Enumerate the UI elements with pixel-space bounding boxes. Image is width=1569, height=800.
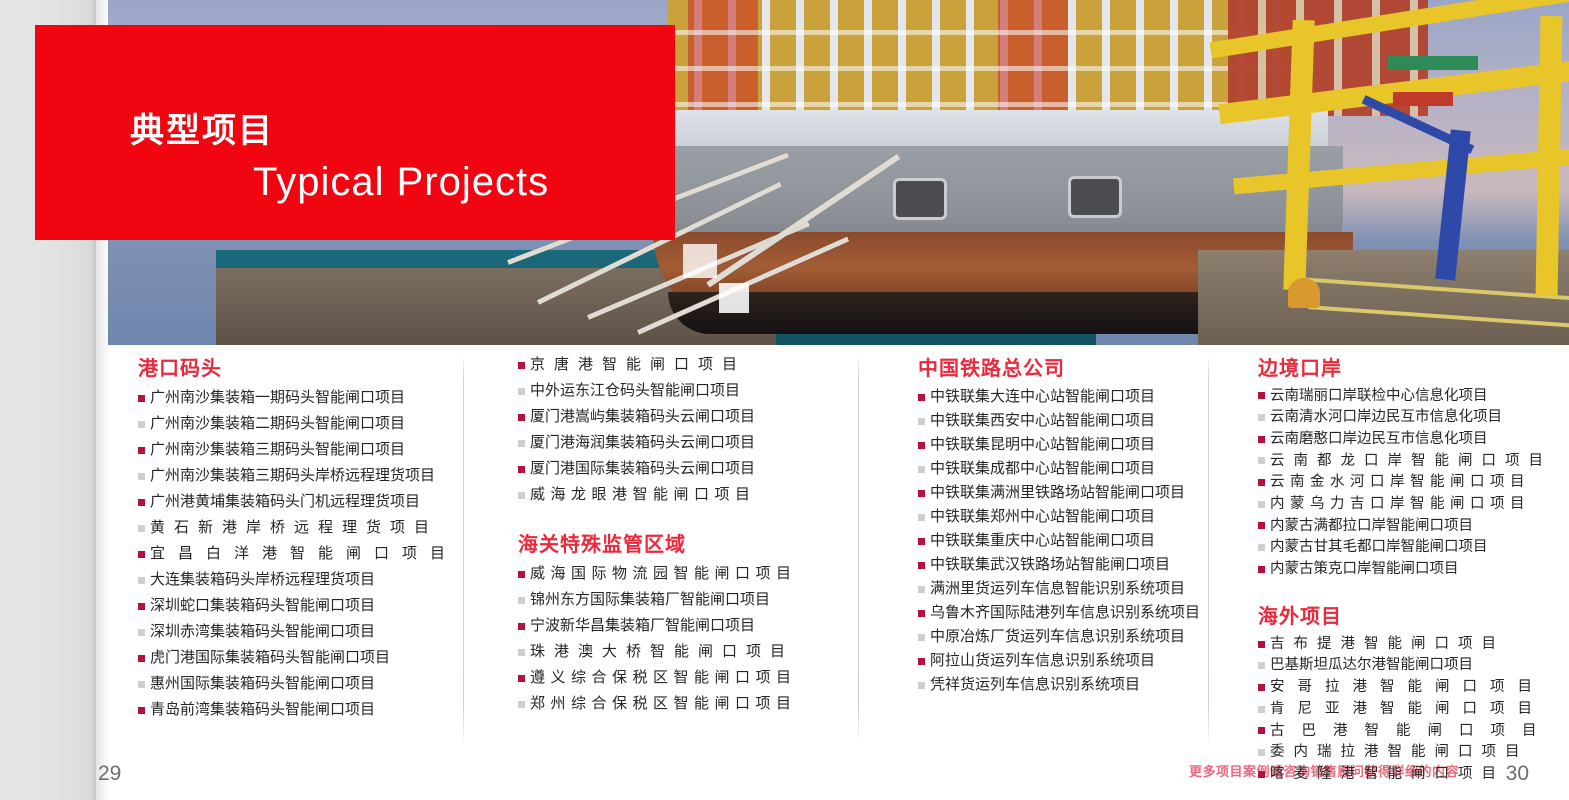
list-item[interactable]: 中铁联集重庆中心站智能闸口项目 — [918, 529, 1188, 553]
page-number-left: 29 — [98, 762, 121, 786]
bullet-icon — [138, 421, 145, 428]
presentation-page: 典型项目 Typical Projects 港口码头 广州南沙集装箱一期码头智能… — [0, 0, 1569, 800]
bullet-icon — [518, 362, 525, 369]
list-item[interactable]: 云南瑞丽口岸联检中心信息化项目 — [1258, 385, 1528, 407]
project-name: 内蒙古甘其毛都口岸智能闸口项目 — [1270, 540, 1488, 555]
bullet-icon — [918, 658, 925, 665]
bullet-icon — [918, 562, 925, 569]
bullet-icon — [138, 551, 145, 558]
project-name: 厦门港国际集装箱码头云闸口项目 — [530, 462, 755, 477]
list-item[interactable]: 吉布提港智能闸口项目 — [1258, 633, 1528, 655]
bullet-icon — [518, 571, 525, 578]
project-name: 惠州国际集装箱码头智能闸口项目 — [150, 677, 375, 692]
bullet-icon — [138, 499, 145, 506]
page-title-cn: 典型项目 — [130, 103, 274, 152]
project-name: 内蒙乌力吉口岸智能闸口项目 — [1270, 497, 1530, 512]
project-list-overseas: 吉布提港智能闸口项目 巴基斯坦瓜达尔港智能闸口项目 安哥拉港智能闸口项目 肯尼亚… — [1258, 633, 1528, 785]
project-name: 中原冶炼厂货运列车信息识别系统项目 — [930, 630, 1185, 645]
project-name: 厦门港海润集装箱码头云闸口项目 — [530, 436, 755, 451]
list-item[interactable]: 云南磨憨口岸边民互市信息化项目 — [1258, 428, 1528, 450]
list-item[interactable]: 厦门港海润集装箱码头云闸口项目 — [518, 430, 788, 456]
project-list-port-terminal: 广州南沙集装箱一期码头智能闸口项目 广州南沙集装箱二期码头智能闸口项目 广州南沙… — [138, 385, 468, 723]
list-item[interactable]: 威海龙眼港智能闸口项目 — [518, 482, 788, 508]
project-name: 中铁联集满洲里铁路场站智能闸口项目 — [930, 486, 1185, 501]
project-name: 青岛前湾集装箱码头智能闸口项目 — [150, 703, 375, 718]
project-name: 广州南沙集装箱二期码头智能闸口项目 — [150, 417, 405, 432]
project-name: 满洲里货运列车信息智能识别系统项目 — [930, 582, 1185, 597]
bullet-icon — [138, 473, 145, 480]
project-name: 云南清水河口岸边民互市信息化项目 — [1270, 410, 1502, 425]
list-item[interactable]: 喀麦隆港智能闸口项目 — [1258, 763, 1528, 785]
list-item[interactable]: 巴基斯坦瓜达尔港智能闸口项目 — [1258, 655, 1528, 677]
list-item[interactable]: 中铁联集满洲里铁路场站智能闸口项目 — [918, 481, 1188, 505]
list-item[interactable]: 深圳赤湾集装箱码头智能闸口项目 — [138, 619, 468, 645]
column-2: 京唐港智能闸口项目 中外运东江仓码头智能闸口项目 厦门港嵩屿集装箱码头云闸口项目… — [518, 352, 788, 717]
bullet-icon — [518, 440, 525, 447]
list-item[interactable]: 厦门港国际集装箱码头云闸口项目 — [518, 456, 788, 482]
section-heading-overseas: 海外项目 — [1258, 600, 1528, 629]
project-name: 宜昌白洋港智能闸口项目 — [150, 547, 458, 562]
list-item[interactable]: 中铁联集西安中心站智能闸口项目 — [918, 409, 1188, 433]
column-divider-2 — [858, 354, 859, 746]
project-name: 内蒙古策克口岸智能闸口项目 — [1270, 562, 1459, 577]
project-name: 郑州综合保税区智能闸口项目 — [530, 697, 797, 712]
bullet-icon — [1258, 544, 1265, 551]
list-item[interactable]: 郑州综合保税区智能闸口项目 — [518, 691, 788, 717]
photo-red-container-hoist — [1393, 92, 1453, 106]
list-item[interactable]: 乌鲁木齐国际陆港列车信息识别系统项目 — [918, 601, 1188, 625]
bullet-icon — [918, 418, 925, 425]
list-item[interactable]: 内蒙古甘其毛都口岸智能闸口项目 — [1258, 537, 1528, 559]
projects-columns: 港口码头 广州南沙集装箱一期码头智能闸口项目 广州南沙集装箱二期码头智能闸口项目… — [108, 352, 1569, 752]
project-name: 威海龙眼港智能闸口项目 — [530, 488, 756, 503]
list-item[interactable]: 内蒙古满都拉口岸智能闸口项目 — [1258, 515, 1528, 537]
project-name: 宁波新华昌集装箱厂智能闸口项目 — [530, 619, 755, 634]
bullet-icon — [138, 525, 145, 532]
project-name: 厦门港嵩屿集装箱码头云闸口项目 — [530, 410, 755, 425]
list-item[interactable]: 中铁联集成都中心站智能闸口项目 — [918, 457, 1188, 481]
list-item[interactable]: 云南清水河口岸边民互市信息化项目 — [1258, 407, 1528, 429]
project-name: 遵义综合保税区智能闸口项目 — [530, 671, 797, 686]
list-item[interactable]: 遵义综合保税区智能闸口项目 — [518, 665, 788, 691]
bullet-icon — [518, 623, 525, 630]
list-item[interactable]: 大连集装箱码头岸桥远程理货项目 — [138, 567, 468, 593]
column-divider-3 — [1208, 354, 1209, 746]
column-1: 港口码头 广州南沙集装箱一期码头智能闸口项目 广州南沙集装箱二期码头智能闸口项目… — [138, 352, 468, 723]
list-item[interactable]: 中铁联集大连中心站智能闸口项目 — [918, 385, 1188, 409]
list-item[interactable]: 惠州国际集装箱码头智能闸口项目 — [138, 671, 468, 697]
list-item[interactable]: 中铁联集昆明中心站智能闸口项目 — [918, 433, 1188, 457]
project-name: 大连集装箱码头岸桥远程理货项目 — [150, 573, 375, 588]
project-name: 云南金水河口岸智能闸口项目 — [1270, 475, 1530, 490]
project-name: 肯尼亚港智能闸口项目 — [1270, 702, 1545, 717]
project-list-border-port: 云南瑞丽口岸联检中心信息化项目 云南清水河口岸边民互市信息化项目 云南磨憨口岸边… — [1258, 385, 1528, 580]
list-item[interactable]: 宜昌白洋港智能闸口项目 — [138, 541, 468, 567]
project-name: 中铁联集大连中心站智能闸口项目 — [930, 390, 1155, 405]
bullet-icon — [1258, 501, 1265, 508]
list-item[interactable]: 中铁联集武汉铁路场站智能闸口项目 — [918, 553, 1188, 577]
bullet-icon — [518, 492, 525, 499]
project-name: 巴基斯坦瓜达尔港智能闸口项目 — [1270, 658, 1473, 673]
list-item[interactable]: 中铁联集郑州中心站智能闸口项目 — [918, 505, 1188, 529]
list-item[interactable]: 珠港澳大桥智能闸口项目 — [518, 639, 788, 665]
list-item[interactable]: 威海国际物流园智能闸口项目 — [518, 561, 788, 587]
bullet-icon — [138, 603, 145, 610]
bullet-icon — [918, 634, 925, 641]
project-name: 深圳蛇口集装箱码头智能闸口项目 — [150, 599, 375, 614]
list-item[interactable]: 内蒙古策克口岸智能闸口项目 — [1258, 559, 1528, 581]
project-list-china-railway: 中铁联集大连中心站智能闸口项目 中铁联集西安中心站智能闸口项目 中铁联集昆明中心… — [918, 385, 1188, 697]
project-name: 深圳赤湾集装箱码头智能闸口项目 — [150, 625, 375, 640]
list-item[interactable]: 中原冶炼厂货运列车信息识别系统项目 — [918, 625, 1188, 649]
bullet-icon — [1258, 706, 1265, 713]
project-name: 中铁联集郑州中心站智能闸口项目 — [930, 510, 1155, 525]
bullet-icon — [138, 655, 145, 662]
list-item[interactable]: 广州南沙集装箱三期码头智能闸口项目 — [138, 437, 468, 463]
project-name: 广州南沙集装箱三期码头岸桥远程理货项目 — [150, 469, 435, 484]
list-item[interactable]: 宁波新华昌集装箱厂智能闸口项目 — [518, 613, 788, 639]
photo-ship-porthole-left — [893, 178, 947, 220]
project-name: 吉布提港智能闸口项目 — [1270, 637, 1505, 652]
page-title-en: Typical Projects — [253, 160, 549, 205]
photo-bollard — [1288, 278, 1320, 308]
list-item[interactable]: 广州南沙集装箱二期码头智能闸口项目 — [138, 411, 468, 437]
list-item[interactable]: 肯尼亚港智能闸口项目 — [1258, 698, 1528, 720]
list-item[interactable]: 云南都龙口岸智能闸口项目 — [1258, 450, 1528, 472]
bullet-icon — [518, 388, 525, 395]
bullet-icon — [1258, 749, 1265, 756]
list-item[interactable]: 云南金水河口岸智能闸口项目 — [1258, 472, 1528, 494]
column-4: 边境口岸 云南瑞丽口岸联检中心信息化项目 云南清水河口岸边民互市信息化项目 云南… — [1258, 352, 1528, 785]
list-item[interactable]: 黄石新港岸桥远程理货项目 — [138, 515, 468, 541]
bullet-icon — [918, 586, 925, 593]
bullet-icon — [518, 414, 525, 421]
bullet-icon — [518, 597, 525, 604]
bullet-icon — [138, 395, 145, 402]
bullet-icon — [138, 629, 145, 636]
bullet-icon — [918, 538, 925, 545]
bullet-icon — [518, 675, 525, 682]
bullet-icon — [1258, 436, 1265, 443]
project-name: 内蒙古满都拉口岸智能闸口项目 — [1270, 519, 1473, 534]
list-item[interactable]: 广州港黄埔集装箱码头门机远程理货项目 — [138, 489, 468, 515]
section-heading-border-port: 边境口岸 — [1258, 352, 1528, 381]
bullet-icon — [1258, 566, 1265, 573]
bullet-icon — [918, 514, 925, 521]
project-name: 广州南沙集装箱一期码头智能闸口项目 — [150, 391, 405, 406]
list-item[interactable]: 京唐港智能闸口项目 — [518, 352, 788, 378]
list-item[interactable]: 厦门港嵩屿集装箱码头云闸口项目 — [518, 404, 788, 430]
project-list-port-terminal-continued: 京唐港智能闸口项目 中外运东江仓码头智能闸口项目 厦门港嵩屿集装箱码头云闸口项目… — [518, 352, 788, 508]
mosaic-tile-18 — [719, 283, 749, 313]
bullet-icon — [1258, 414, 1265, 421]
project-name: 委内瑞拉港智能闸口项目 — [1270, 745, 1529, 760]
project-name: 凭祥货运列车信息识别系统项目 — [930, 678, 1140, 693]
project-list-customs-special-zone: 威海国际物流园智能闸口项目 锦州东方国际集装箱厂智能闸口项目 宁波新华昌集装箱厂… — [518, 561, 788, 717]
project-name: 云南磨憨口岸边民互市信息化项目 — [1270, 432, 1488, 447]
bullet-icon — [138, 681, 145, 688]
bullet-icon — [518, 466, 525, 473]
section-heading-port-terminal: 港口码头 — [138, 352, 468, 381]
list-item[interactable]: 古巴港智能闸口项目 — [1258, 720, 1528, 742]
bullet-icon — [918, 682, 925, 689]
bullet-icon — [1258, 457, 1265, 464]
bullet-icon — [1258, 727, 1265, 734]
bullet-icon — [138, 577, 145, 584]
bullet-icon — [1258, 522, 1265, 529]
list-item[interactable]: 虎门港国际集装箱码头智能闸口项目 — [138, 645, 468, 671]
project-name: 中铁联集昆明中心站智能闸口项目 — [930, 438, 1155, 453]
bullet-icon — [1258, 662, 1265, 669]
list-item[interactable]: 中外运东江仓码头智能闸口项目 — [518, 378, 788, 404]
photo-green-container-hoist — [1388, 56, 1478, 70]
bullet-icon — [918, 490, 925, 497]
bullet-icon — [1258, 771, 1265, 778]
list-item[interactable]: 满洲里货运列车信息智能识别系统项目 — [918, 577, 1188, 601]
bullet-icon — [518, 701, 525, 708]
project-name: 黄石新港岸桥远程理货项目 — [150, 521, 438, 536]
project-name: 中外运东江仓码头智能闸口项目 — [530, 384, 740, 399]
list-item[interactable]: 广州南沙集装箱三期码头岸桥远程理货项目 — [138, 463, 468, 489]
project-name: 喀麦隆港智能闸口项目 — [1270, 767, 1505, 782]
project-name: 京唐港智能闸口项目 — [530, 358, 746, 373]
project-name: 中铁联集成都中心站智能闸口项目 — [930, 462, 1155, 477]
project-name: 虎门港国际集装箱码头智能闸口项目 — [150, 651, 390, 666]
project-name: 云南瑞丽口岸联检中心信息化项目 — [1270, 389, 1488, 404]
list-item[interactable]: 委内瑞拉港智能闸口项目 — [1258, 742, 1528, 764]
bullet-icon — [518, 649, 525, 656]
list-item[interactable]: 阿拉山货运列车信息识别系统项目 — [918, 649, 1188, 673]
bullet-icon — [918, 466, 925, 473]
title-banner: 典型项目 Typical Projects — [35, 25, 675, 240]
mosaic-tile-17 — [683, 244, 717, 278]
list-item[interactable]: 广州南沙集装箱一期码头智能闸口项目 — [138, 385, 468, 411]
list-item[interactable]: 深圳蛇口集装箱码头智能闸口项目 — [138, 593, 468, 619]
photo-ship-porthole-right — [1068, 176, 1122, 218]
bullet-icon — [1258, 641, 1265, 648]
section-heading-customs-special-zone: 海关特殊监管区域 — [518, 528, 788, 557]
project-name: 阿拉山货运列车信息识别系统项目 — [930, 654, 1155, 669]
project-name: 广州南沙集装箱三期码头智能闸口项目 — [150, 443, 405, 458]
column-3: 中国铁路总公司 中铁联集大连中心站智能闸口项目 中铁联集西安中心站智能闸口项目 … — [918, 352, 1188, 697]
project-name: 锦州东方国际集装箱厂智能闸口项目 — [530, 593, 770, 608]
project-name: 古巴港智能闸口项目 — [1270, 724, 1554, 739]
project-name: 珠港澳大桥智能闸口项目 — [530, 645, 794, 660]
photo-container-stack — [668, 0, 1308, 124]
section-heading-china-railway: 中国铁路总公司 — [918, 352, 1188, 381]
project-name: 云南都龙口岸智能闸口项目 — [1270, 454, 1552, 469]
list-item[interactable]: 安哥拉港智能闸口项目 — [1258, 677, 1528, 699]
bullet-icon — [1258, 392, 1265, 399]
bullet-icon — [138, 447, 145, 454]
project-name: 乌鲁木齐国际陆港列车信息识别系统项目 — [930, 606, 1200, 621]
project-name: 中铁联集重庆中心站智能闸口项目 — [930, 534, 1155, 549]
bullet-icon — [918, 442, 925, 449]
bullet-icon — [138, 707, 145, 714]
list-item[interactable]: 锦州东方国际集装箱厂智能闸口项目 — [518, 587, 788, 613]
project-name: 威海国际物流园智能闸口项目 — [530, 567, 797, 582]
bullet-icon — [1258, 479, 1265, 486]
project-name: 广州港黄埔集装箱码头门机远程理货项目 — [150, 495, 420, 510]
project-name: 安哥拉港智能闸口项目 — [1270, 680, 1545, 695]
bullet-icon — [1258, 684, 1265, 691]
photo-quay — [1198, 250, 1569, 345]
list-item[interactable]: 内蒙乌力吉口岸智能闸口项目 — [1258, 493, 1528, 515]
list-item[interactable]: 青岛前湾集装箱码头智能闸口项目 — [138, 697, 468, 723]
list-item[interactable]: 凭祥货运列车信息识别系统项目 — [918, 673, 1188, 697]
bullet-icon — [918, 610, 925, 617]
project-name: 中铁联集武汉铁路场站智能闸口项目 — [930, 558, 1170, 573]
project-name: 中铁联集西安中心站智能闸口项目 — [930, 414, 1155, 429]
bullet-icon — [918, 394, 925, 401]
